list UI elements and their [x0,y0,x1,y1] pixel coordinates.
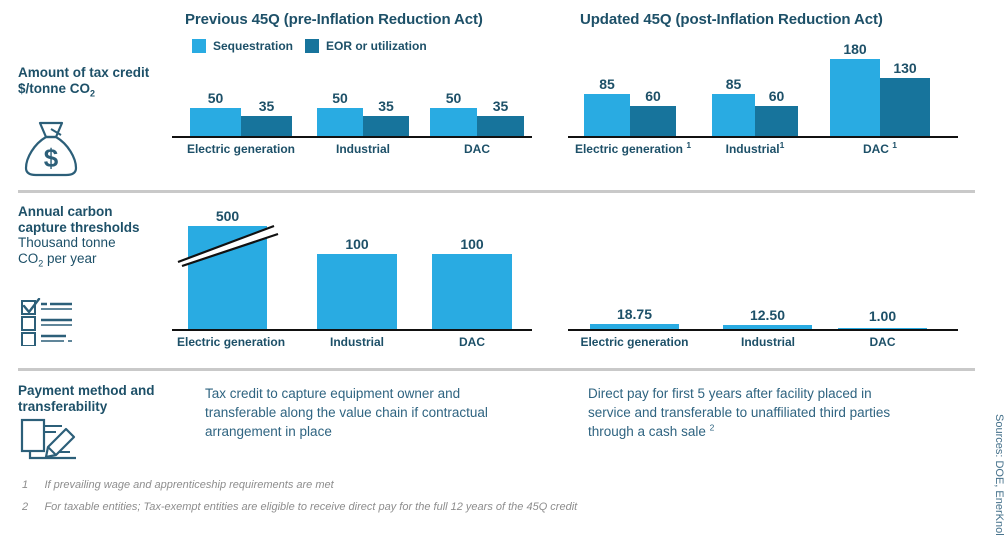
payment-text-previous: Tax credit to capture equipment owner an… [205,384,505,441]
bar-value-label: 100 [317,236,397,252]
bar-value-label: 85 [712,76,755,92]
bar-threshold [590,324,679,329]
axis-line [172,329,532,332]
section-divider [18,368,975,371]
bar-sequestration [190,108,241,136]
category-label: Industrial1 [705,142,805,156]
row3-title-line1: Payment method and [18,383,188,399]
chart-threshold-updated: 18.75 Electric generation 12.50 Industri… [568,300,958,353]
bar-value-label: 85 [584,76,630,92]
footnote-number: 2 [22,501,40,513]
chart-threshold-previous: 500 Electric generation 100 Industrial 1… [172,205,532,353]
category-label: Electric generation 1 [570,142,696,156]
bar-sequestration [830,59,880,136]
bar-value-label: 1.00 [838,308,927,324]
bar-threshold [188,226,267,329]
bar-value-label: 12.50 [723,307,812,323]
bar-eor [880,78,930,136]
bar-eor [630,106,676,136]
bar-threshold [723,325,812,328]
infographic-root: Previous 45Q (pre-Inflation Reduction Ac… [0,0,1007,544]
bar-eor [363,116,409,136]
bar-sequestration [430,108,477,136]
axis-line [568,136,958,139]
row2-title-line3: Thousand tonne [18,235,183,251]
bar-sequestration [317,108,363,136]
footnote-text: If prevailing wage and apprenticeship re… [44,479,333,491]
bar-value-label: 50 [190,90,241,106]
legend-item-sequestration: Sequestration [192,39,293,53]
bar-sequestration [712,94,755,136]
category-label: Electric generation [180,142,302,156]
footnote-text: For taxable entities; Tax-exempt entitie… [44,501,577,513]
category-label: Industrial [307,335,407,349]
category-label: DAC [830,335,935,349]
row2-title-line1: Annual carbon [18,204,183,220]
category-label: Electric generation [578,335,691,349]
column-title-previous: Previous 45Q (pre-Inflation Reduction Ac… [185,11,483,28]
row1-title-line1: Amount of tax credit [18,65,178,81]
axis-line [172,136,532,139]
bar-value-label: 50 [430,90,477,106]
legend-label-sequestration: Sequestration [213,39,293,53]
source-note: Sources: DOE, EnerKnol [993,414,1005,536]
bar-value-label: 60 [755,88,798,104]
bar-eor [477,116,524,136]
document-pencil-icon [20,418,82,469]
bar-value-label: 100 [432,236,512,252]
money-bag-icon: $ [20,120,82,183]
bar-value-label: 500 [188,208,267,224]
column-title-updated: Updated 45Q (post-Inflation Reduction Ac… [580,11,883,28]
footnote-1: 1 If prevailing wage and apprenticeship … [22,475,334,493]
category-label: DAC 1 [830,142,930,156]
category-label: Industrial [713,335,823,349]
row3-title-line2: transferability [18,399,188,415]
legend-swatch-sequestration [192,39,206,53]
section-divider [18,190,975,193]
row2-title-line4: CO2 per year [18,251,183,272]
legend-swatch-eor [305,39,319,53]
bar-threshold [317,254,397,329]
legend-item-eor: EOR or utilization [305,39,427,53]
category-label: Industrial [313,142,413,156]
checklist-icon [20,298,78,351]
svg-text:$: $ [44,143,59,173]
bar-value-label: 35 [363,98,409,114]
axis-line [568,329,958,332]
bar-value-label: 60 [630,88,676,104]
row-label-payment-method: Payment method and transferability [18,383,188,414]
category-label: DAC [422,335,522,349]
footnote-2: 2 For taxable entities; Tax-exempt entit… [22,497,577,515]
chart-tax-credit-previous: 50 35 Electric generation 50 35 Industri… [172,62,532,160]
chart-tax-credit-updated: 85 60 Electric generation 1 85 60 Indust… [568,55,958,160]
bar-value-label: 130 [880,60,930,76]
bar-threshold [838,328,927,329]
payment-text-updated: Direct pay for first 5 years after facil… [588,384,893,441]
bar-sequestration [584,94,630,136]
bar-value-label: 50 [317,90,363,106]
category-label: DAC [427,142,527,156]
category-label: Electric generation [177,335,279,349]
bar-eor [755,106,798,136]
legend-label-eor: EOR or utilization [326,39,427,53]
footnote-number: 1 [22,479,40,491]
bar-value-label: 180 [830,41,880,57]
row-label-tax-credit: Amount of tax credit $/tonne CO2 [18,65,178,102]
bar-eor [241,116,292,136]
row1-title-line2: $/tonne CO2 [18,81,178,102]
row2-title-line2: capture thresholds [18,220,183,236]
row-label-capture-threshold: Annual carbon capture thresholds Thousan… [18,204,183,272]
bar-value-label: 35 [241,98,292,114]
bar-value-label: 18.75 [590,306,679,322]
bar-threshold [432,254,512,329]
bar-value-label: 35 [477,98,524,114]
